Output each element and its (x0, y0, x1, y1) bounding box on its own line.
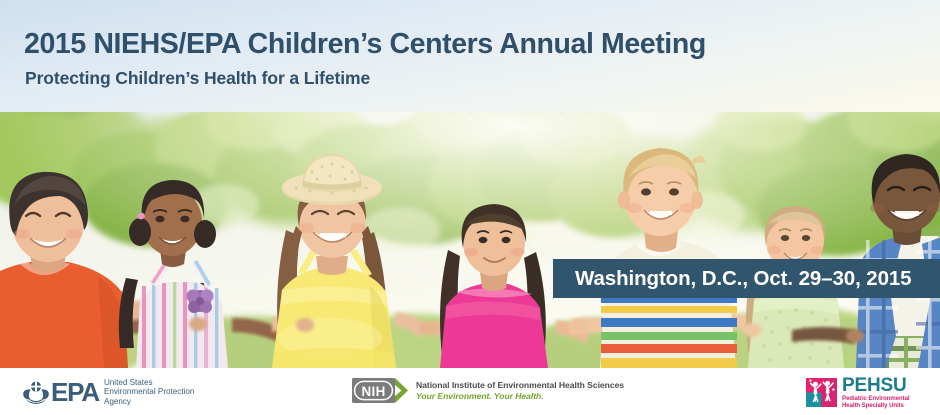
epa-tagline: United States Environmental Protection A… (104, 377, 194, 406)
pehsu-tagline-line2: Health Specialty Units (842, 402, 909, 409)
pehsu-figures-icon (806, 378, 837, 407)
nih-slogan: Your Environment. Your Health. (416, 391, 624, 402)
page-title: 2015 NIEHS/EPA Children’s Centers Annual… (24, 28, 706, 61)
page-subtitle: Protecting Children’s Health for a Lifet… (25, 68, 370, 89)
pehsu-logo[interactable]: PEHSU Pediatric Environmental Health Spe… (806, 376, 909, 410)
location-date-banner: Washington, D.C., Oct. 29–30, 2015 (553, 259, 940, 298)
nih-text: National Institute of Environmental Heal… (416, 380, 624, 402)
epa-tagline-line1: United States (104, 378, 194, 387)
epa-seal-icon (22, 378, 50, 406)
nih-chevron-icon: NIH (352, 378, 408, 403)
location-date-text: Washington, D.C., Oct. 29–30, 2015 (575, 267, 911, 291)
epa-wordmark: EPA (51, 379, 99, 405)
epa-logo[interactable]: EPA United States Environmental Protecti… (22, 377, 194, 406)
epa-tagline-line2: Environmental Protection (104, 387, 194, 396)
svg-text:NIH: NIH (361, 384, 385, 399)
banner-header: 2015 NIEHS/EPA Children’s Centers Annual… (0, 0, 940, 112)
pehsu-text: PEHSU Pediatric Environmental Health Spe… (842, 376, 909, 410)
epa-tagline-line3: Agency (104, 397, 194, 406)
pehsu-wordmark: PEHSU (842, 376, 909, 395)
nih-logo[interactable]: NIH National Institute of Environmental … (352, 378, 624, 403)
pehsu-tagline-line1: Pediatric Environmental (842, 395, 909, 402)
nih-name: National Institute of Environmental Heal… (416, 380, 624, 391)
conference-banner: 2015 NIEHS/EPA Children’s Centers Annual… (0, 0, 940, 415)
